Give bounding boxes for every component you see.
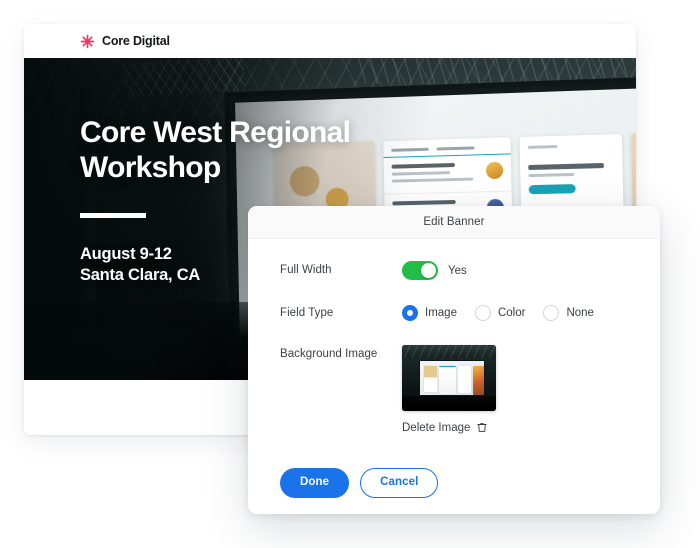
radio-option-none[interactable]: None: [543, 305, 594, 321]
background-image-label: Background Image: [280, 345, 402, 360]
brand-logo[interactable]: Core Digital: [80, 34, 170, 49]
background-image-thumbnail[interactable]: [402, 345, 496, 411]
field-type-radio-group: Image Color None: [402, 304, 660, 321]
brand-name: Core Digital: [102, 34, 170, 48]
delete-image-label: Delete Image: [402, 422, 470, 434]
asterisk-starburst-icon: [80, 34, 95, 49]
hero-title: Core West Regional Workshop: [80, 116, 410, 186]
edit-banner-modal: Edit Banner Full Width Yes Field Type: [248, 206, 660, 514]
form-row-full-width: Full Width Yes: [280, 261, 660, 280]
radio-image-icon[interactable]: [402, 305, 418, 321]
full-width-value: Yes: [448, 265, 467, 277]
modal-footer: Done Cancel: [248, 452, 660, 514]
radio-none-icon[interactable]: [543, 305, 559, 321]
cancel-button[interactable]: Cancel: [360, 468, 438, 498]
trash-icon: [476, 421, 488, 434]
radio-image-label: Image: [425, 307, 457, 319]
full-width-label: Full Width: [280, 261, 402, 276]
delete-image-button[interactable]: Delete Image: [402, 421, 660, 434]
site-header: Core Digital: [24, 24, 636, 58]
radio-option-color[interactable]: Color: [475, 305, 525, 321]
modal-title: Edit Banner: [423, 216, 484, 228]
radio-option-image[interactable]: Image: [402, 305, 457, 321]
modal-header: Edit Banner: [248, 206, 660, 239]
full-width-toggle[interactable]: [402, 261, 438, 280]
form-row-field-type: Field Type Image Color None: [280, 304, 660, 321]
radio-color-label: Color: [498, 307, 525, 319]
radio-none-label: None: [566, 307, 594, 319]
toggle-knob: [421, 263, 436, 278]
field-type-label: Field Type: [280, 304, 402, 319]
modal-body: Full Width Yes Field Type Image: [248, 239, 660, 452]
radio-color-icon[interactable]: [475, 305, 491, 321]
done-button[interactable]: Done: [280, 468, 349, 498]
form-row-background-image: Background Image Delete Image: [280, 345, 660, 434]
hero-divider: [80, 213, 146, 218]
